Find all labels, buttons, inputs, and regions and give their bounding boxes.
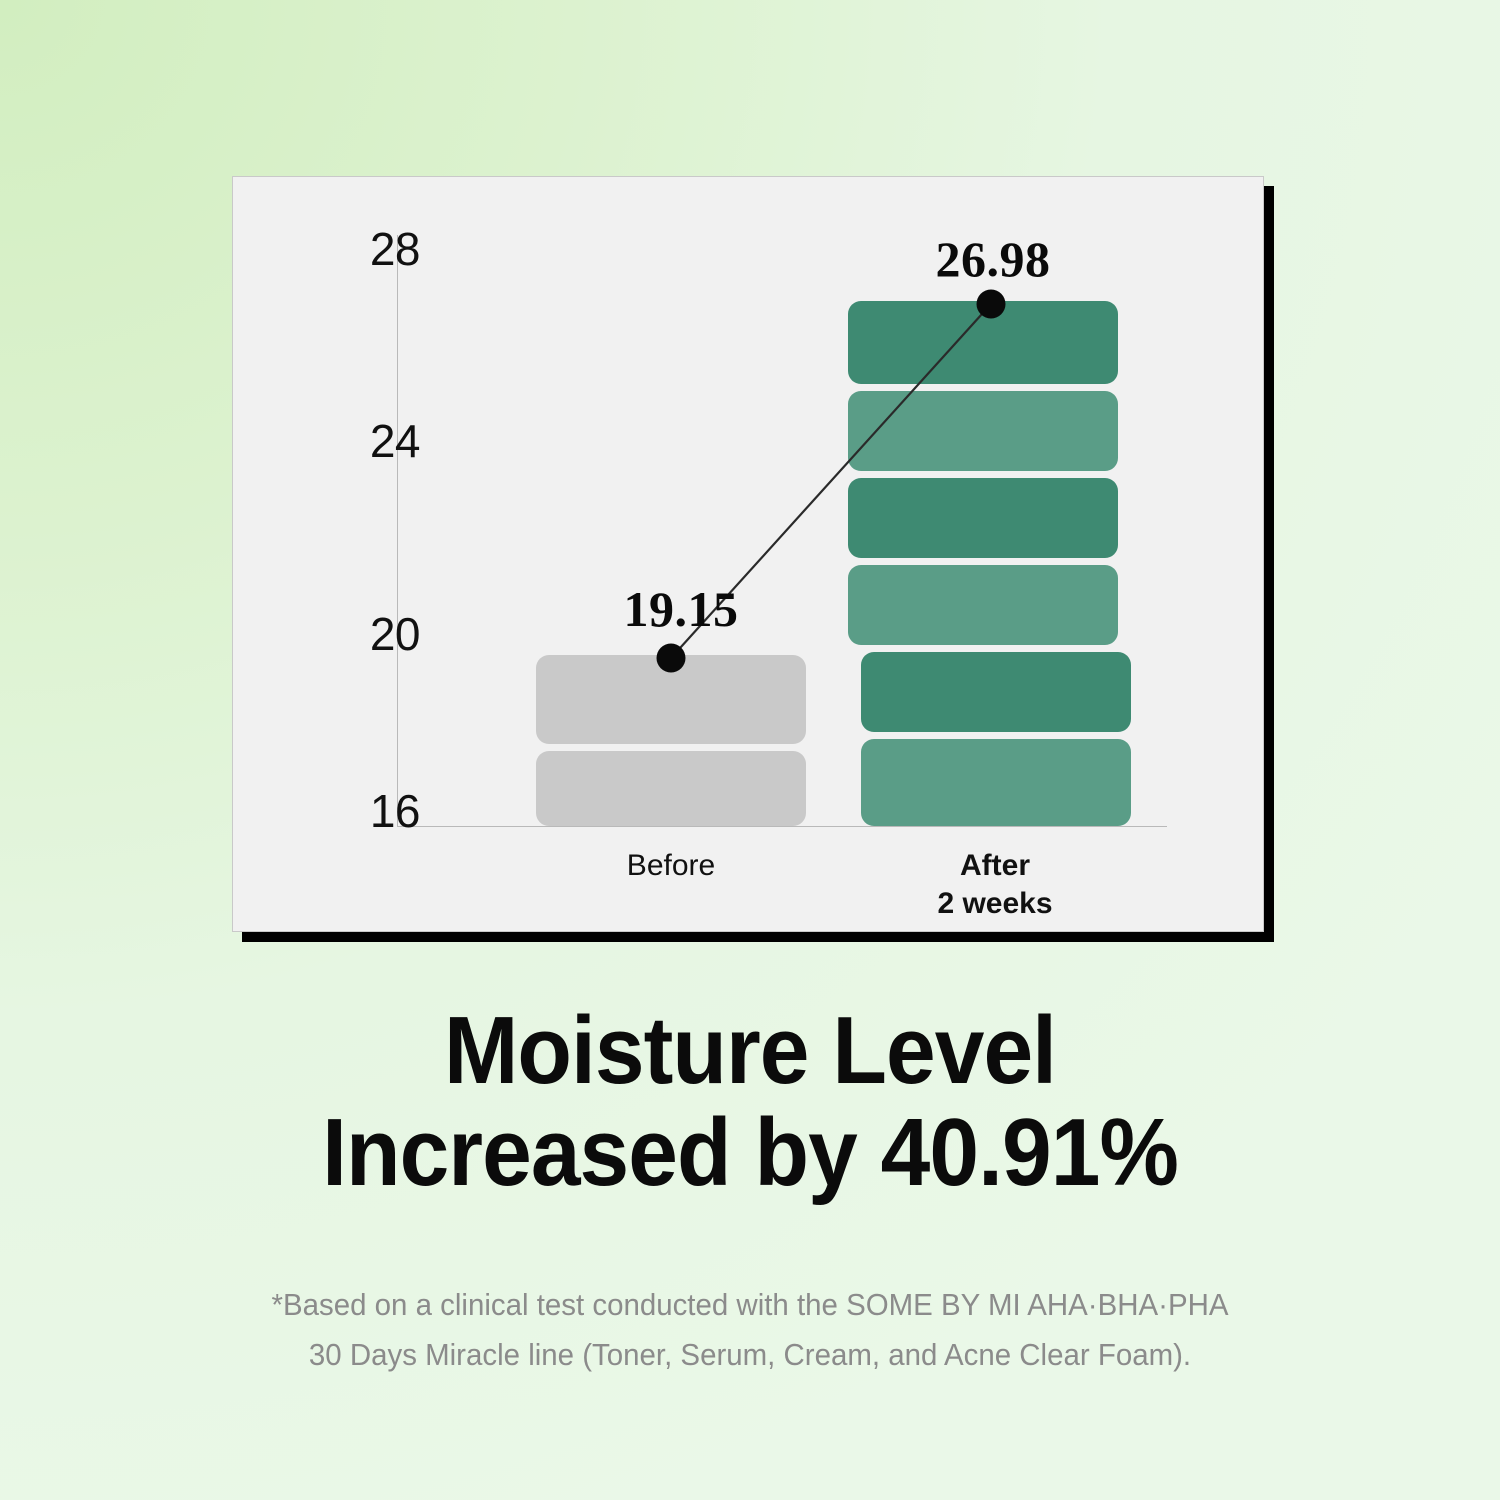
footnote-line-2: 30 Days Miracle line (Toner, Serum, Crea… bbox=[38, 1330, 1463, 1380]
page-title: Moisture Level Increased by 40.91% bbox=[53, 1000, 1448, 1204]
bar-after-segment-3 bbox=[848, 478, 1118, 558]
footnote: *Based on a clinical test conducted with… bbox=[38, 1280, 1463, 1380]
data-point-after[interactable] bbox=[977, 290, 1006, 319]
headline-line-1: Moisture Level bbox=[53, 1000, 1448, 1102]
x-axis-line bbox=[397, 826, 1167, 827]
category-label-after: After 2 weeks bbox=[937, 847, 1052, 922]
bar-after-segment-4 bbox=[848, 565, 1118, 645]
y-tick-label-28: 28 bbox=[370, 226, 420, 272]
y-tick-label-24: 24 bbox=[370, 418, 420, 464]
bar-after-segment-2 bbox=[848, 391, 1118, 471]
value-label-before: 19.15 bbox=[624, 584, 739, 634]
data-point-before[interactable] bbox=[657, 644, 686, 673]
y-axis-line bbox=[397, 235, 398, 827]
bar-before-segment-2 bbox=[536, 751, 806, 826]
plot-area: 28 24 20 16 19.15 26.98 Before Af bbox=[233, 177, 1263, 931]
chart-card: 28 24 20 16 19.15 26.98 Before Af bbox=[232, 176, 1264, 932]
y-tick-label-16: 16 bbox=[370, 788, 420, 834]
bar-after-segment-6 bbox=[861, 739, 1131, 826]
bar-after-segment-5 bbox=[861, 652, 1131, 732]
category-label-before: Before bbox=[627, 847, 715, 885]
footnote-line-1: *Based on a clinical test conducted with… bbox=[38, 1280, 1463, 1330]
headline-line-2: Increased by 40.91% bbox=[53, 1102, 1448, 1204]
y-tick-label-20: 20 bbox=[370, 611, 420, 657]
bar-before[interactable] bbox=[536, 655, 806, 826]
value-label-after: 26.98 bbox=[936, 234, 1051, 284]
bar-after[interactable] bbox=[848, 301, 1131, 826]
